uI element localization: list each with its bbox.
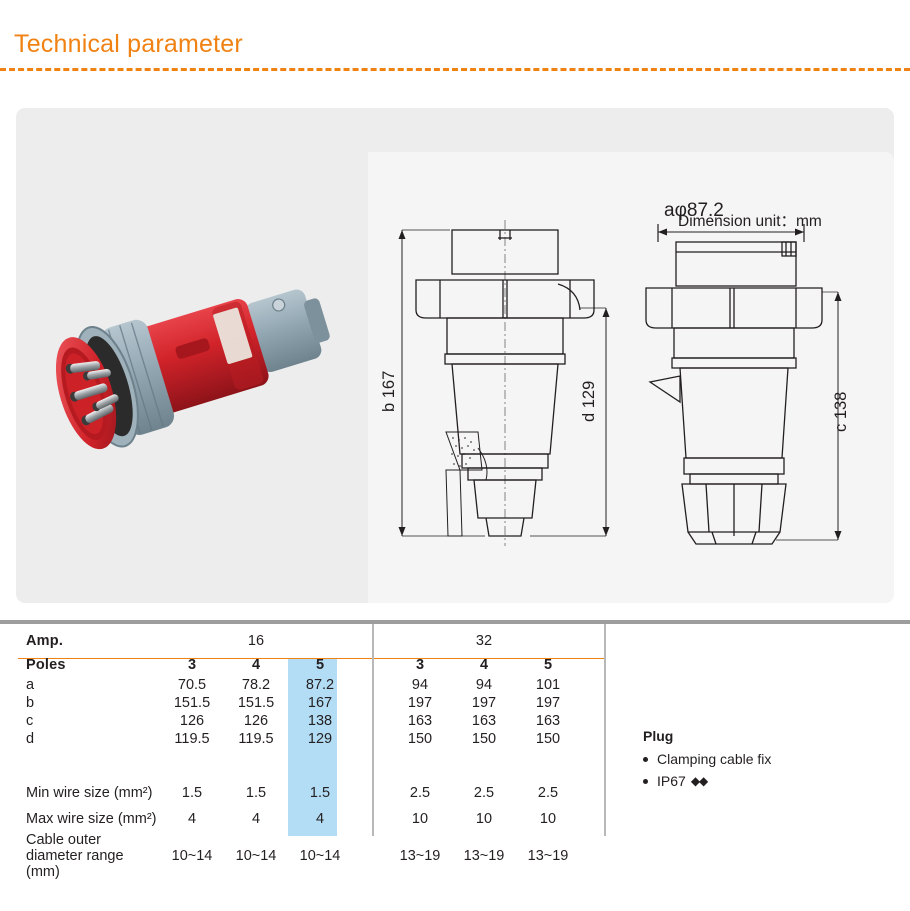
water-drop-icon: ◆◆ [691,774,707,788]
legend-title: Plug [643,728,771,744]
table-row-b: b 151.5 151.5 167 197 197 197 [18,694,580,712]
specification-table-section: Amp. 16 32 Poles 3 4 5 3 4 5 a [0,620,910,850]
table-row-spacer [18,748,580,780]
table-row-amp: Amp. 16 32 [18,628,580,654]
table-top-bar [0,620,910,624]
product-photo [30,256,360,471]
specification-table: Amp. 16 32 Poles 3 4 5 3 4 5 a [18,628,580,880]
row-label-cable-diameter: Cable outer diameter range (mm) [18,832,160,880]
bullet-icon [643,779,648,784]
page-title: Technical parameter [14,30,243,59]
dimension-label-d: d 129 [580,381,599,422]
table-row-min-wire: Min wire size (mm²) 1.5 1.5 1.5 2.5 2.5 … [18,780,580,806]
legend-item-clamping: Clamping cable fix [643,751,771,767]
legend-item-label: Clamping cable fix [657,751,771,767]
plug-legend: Plug Clamping cable fix IP67 ◆◆ [643,728,771,789]
row-label-a: a [18,676,160,694]
row-label-b: b [18,694,160,712]
technical-parameter-page: Technical parameter [0,0,910,911]
row-label-poles: Poles [18,654,160,676]
table-row-cable-diameter: Cable outer diameter range (mm) 10~14 10… [18,832,580,880]
table-row-max-wire: Max wire size (mm²) 4 4 4 10 10 10 [18,806,580,832]
title-divider [0,68,910,71]
group-amp-16: 16 [224,628,288,654]
side-view-drawing [636,196,868,548]
legend-item-ip67: IP67 ◆◆ [643,773,771,789]
product-illustration-panel: Dimension unit：mm [16,108,894,603]
group-amp-32: 32 [452,628,516,654]
table-row-poles: Poles 3 4 5 3 4 5 [18,654,580,676]
row-label-max-wire: Max wire size (mm²) [18,806,160,832]
row-label-amp: Amp. [18,628,160,654]
table-row-a: a 70.5 78.2 87.2 94 94 101 [18,676,580,694]
bullet-icon [643,757,648,762]
row-label-d: d [18,730,160,748]
table-row-d: d 119.5 119.5 129 150 150 150 [18,730,580,748]
dimension-label-b: b 167 [380,371,399,412]
dimension-label-c: c 138 [832,392,851,432]
row-label-c: c [18,712,160,730]
table-row-c: c 126 126 138 163 163 163 [18,712,580,730]
row-label-min-wire: Min wire size (mm²) [18,780,160,806]
dimension-drawing-panel: Dimension unit：mm [368,152,894,603]
table-group-divider-2 [604,624,606,836]
dimension-label-a: aφ87.2 [664,200,724,222]
legend-item-label: IP67 [657,773,686,789]
